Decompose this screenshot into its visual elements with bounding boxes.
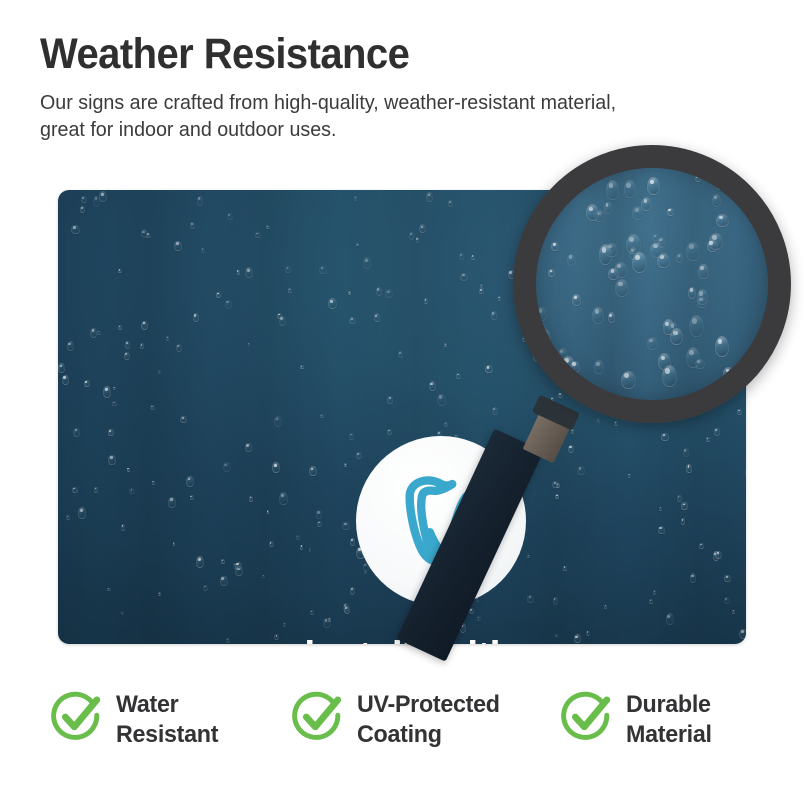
feature-item-water-resistant: Water Resistant — [50, 688, 270, 750]
weather-resistance-infographic: Weather Resistance Our signs are crafted… — [0, 0, 804, 804]
logo-circle — [356, 436, 526, 606]
page-subtitle: Our signs are crafted from high-quality,… — [40, 89, 645, 143]
feature-label: UV-Protected Coating — [357, 688, 500, 750]
check-circle-icon — [50, 690, 104, 744]
header: Weather Resistance Our signs are crafted… — [40, 32, 730, 143]
check-circle-icon — [291, 690, 345, 744]
check-circle-icon — [560, 690, 614, 744]
feature-label: Durable Material — [626, 688, 712, 750]
feature-item-durable-material: Durable Material — [560, 688, 770, 750]
brand-name: dentalhealth — [65, 636, 739, 644]
tooth-outline-icon — [385, 465, 497, 577]
sign-product-image: dentalhealth ENTER HERE — [58, 190, 746, 644]
feature-list: Water Resistant UV-Protected Coating Dur… — [50, 688, 770, 750]
feature-item-uv-protected-coating: UV-Protected Coating — [291, 688, 539, 750]
page-title: Weather Resistance — [40, 32, 682, 77]
sign-panel: dentalhealth ENTER HERE — [58, 190, 746, 644]
feature-label: Water Resistant — [116, 688, 218, 750]
